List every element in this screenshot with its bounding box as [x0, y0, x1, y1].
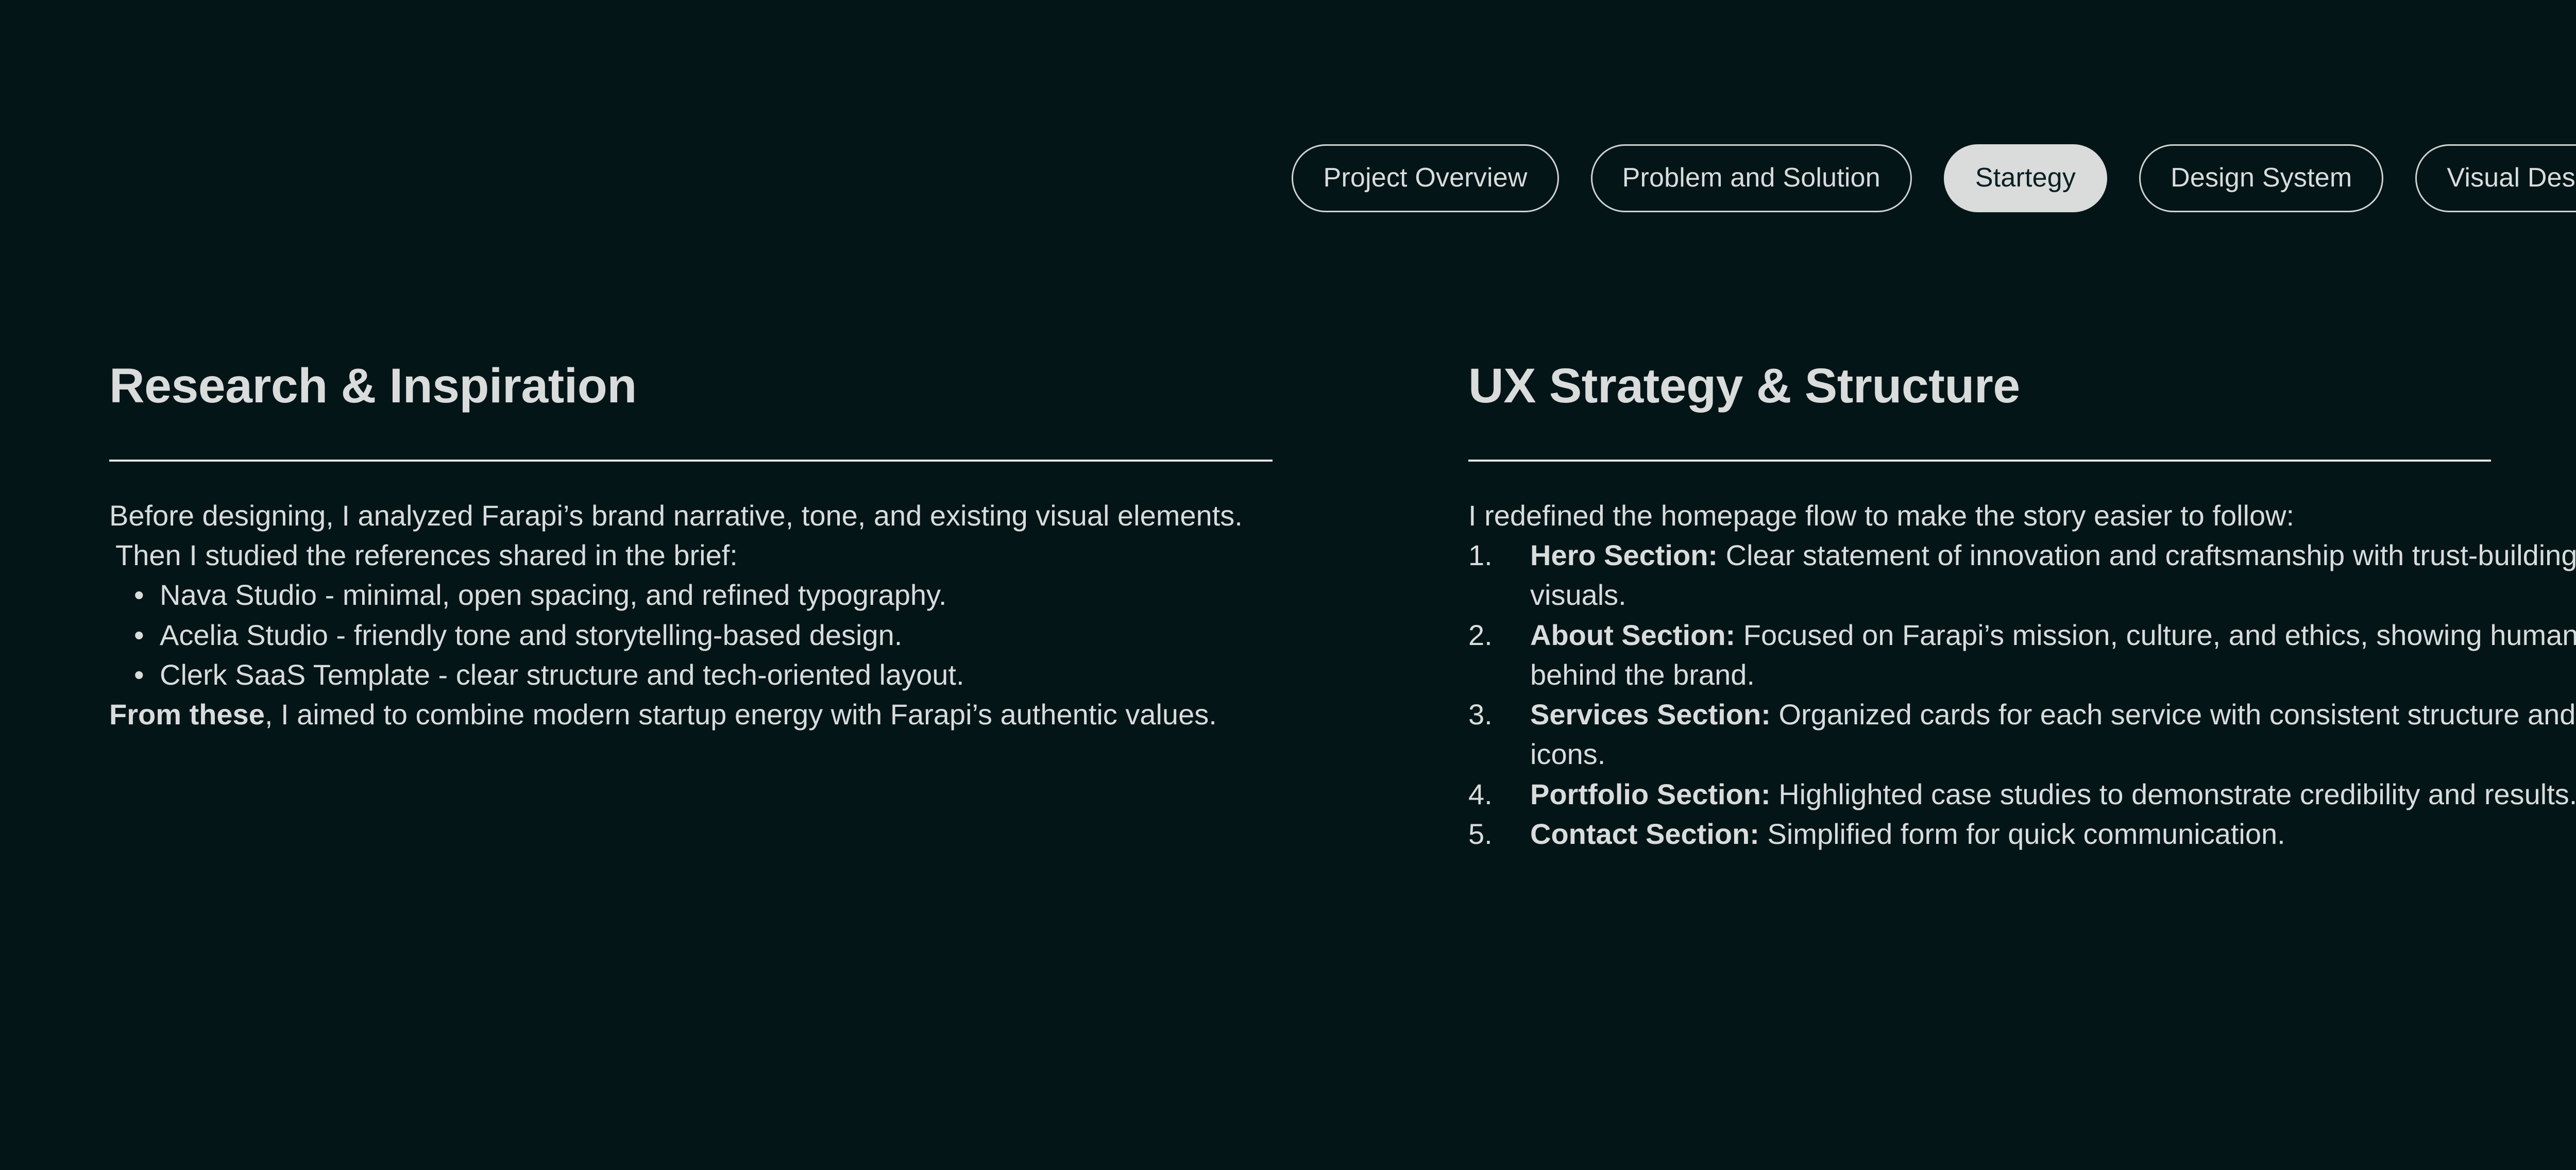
nav-pill-design-system[interactable]: Design System — [2139, 144, 2383, 212]
list-item: 1. Hero Section: Clear statement of inno… — [1468, 535, 2576, 615]
list-item: • Acelia Studio - friendly tone and stor… — [109, 615, 1273, 655]
bullet-icon: • — [134, 615, 144, 655]
nav-pill-project-overview[interactable]: Project Overview — [1292, 144, 1558, 212]
list-item-number: 5. — [1468, 814, 1513, 854]
left-intro-line-1: Before designing, I analyzed Farapi’s br… — [109, 496, 1273, 535]
list-item: 4. Portfolio Section: Highlighted case s… — [1468, 774, 2576, 814]
column-research-inspiration: Research & Inspiration Before designing,… — [0, 361, 1391, 734]
bullet-text: Nava Studio - minimal, open spacing, and… — [160, 579, 946, 611]
homepage-flow-list: 1. Hero Section: Clear statement of inno… — [1468, 535, 2576, 854]
reference-bullet-list: • Nava Studio - minimal, open spacing, a… — [109, 575, 1273, 694]
content-columns: Research & Inspiration Before designing,… — [0, 361, 2576, 854]
nav-pill-problem-and-solution[interactable]: Problem and Solution — [1591, 144, 1912, 212]
bullet-text: Clerk SaaS Template - clear structure an… — [160, 658, 964, 691]
bullet-text: Acelia Studio - friendly tone and storyt… — [160, 619, 902, 651]
list-item-text: Highlighted case studies to demonstrate … — [1771, 778, 2576, 810]
list-item: 2. About Section: Focused on Farapi’s mi… — [1468, 615, 2576, 695]
bullet-icon: • — [134, 655, 144, 694]
left-closing-emphasis: From these — [109, 698, 265, 731]
list-item: 5. Contact Section: Simplified form for … — [1468, 814, 2576, 854]
left-column-body: Before designing, I analyzed Farapi’s br… — [109, 496, 1273, 735]
list-item-number: 1. — [1468, 535, 1513, 575]
list-item: • Nava Studio - minimal, open spacing, a… — [109, 575, 1273, 615]
list-item-number: 3. — [1468, 694, 1513, 734]
list-item: • Clerk SaaS Template - clear structure … — [109, 655, 1273, 694]
list-item-title: Services Section: — [1530, 698, 1771, 731]
nav-pill-visual-design[interactable]: Visual Design — [2415, 144, 2576, 212]
left-column-divider — [109, 460, 1273, 462]
list-item-title: About Section: — [1530, 619, 1735, 651]
right-intro-paragraph: I redefined the homepage flow to make th… — [1468, 496, 2576, 535]
list-item-number: 2. — [1468, 615, 1513, 655]
left-column-heading: Research & Inspiration — [109, 361, 1273, 412]
right-column-body: I redefined the homepage flow to make th… — [1468, 496, 2576, 854]
list-item: 3. Services Section: Organized cards for… — [1468, 694, 2576, 774]
right-column-heading: UX Strategy & Structure — [1468, 361, 2576, 412]
list-item-title: Portfolio Section: — [1530, 778, 1771, 810]
left-closing-paragraph: From these, I aimed to combine modern st… — [109, 694, 1273, 734]
list-item-title: Contact Section: — [1530, 818, 1759, 850]
section-navigation: Project Overview Problem and Solution St… — [0, 144, 2576, 212]
nav-pill-startegy[interactable]: Startegy — [1944, 144, 2107, 212]
right-column-divider — [1468, 460, 2491, 462]
left-intro-line-2: Then I studied the references shared in … — [109, 535, 1273, 575]
list-item-title: Hero Section: — [1530, 539, 1718, 571]
bullet-icon: • — [134, 575, 144, 615]
column-ux-strategy-structure: UX Strategy & Structure I redefined the … — [1391, 361, 2576, 854]
list-item-text: Simplified form for quick communication. — [1759, 818, 2285, 850]
left-closing-rest: , I aimed to combine modern startup ener… — [265, 698, 1217, 731]
list-item-number: 4. — [1468, 774, 1513, 814]
